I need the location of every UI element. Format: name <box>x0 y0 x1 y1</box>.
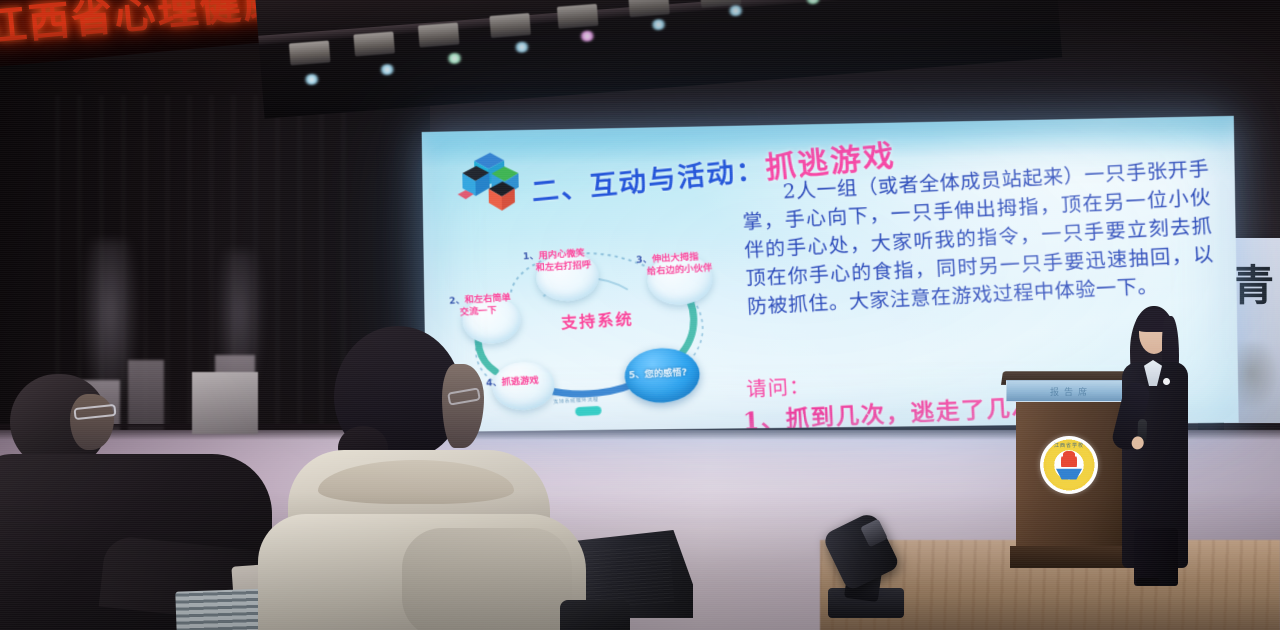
audience-member-center <box>252 318 592 630</box>
crest-arc-text: 江西省学校 <box>1040 442 1098 449</box>
cycle-node-5-num: 5、 <box>628 369 644 381</box>
cube-logo-svg <box>444 146 532 232</box>
cycle-node-2-num: 2、 <box>449 295 465 307</box>
cycle-node-2-line1: 和左右简单 <box>464 292 511 306</box>
spotlight-beam <box>579 30 596 42</box>
isometric-cube-logo <box>444 146 532 232</box>
moving-head-body <box>821 510 900 591</box>
spotlight-beam <box>513 41 530 53</box>
presenter-speaker <box>1108 300 1198 585</box>
stage-light-fixture <box>557 4 599 29</box>
audience-center-shading <box>402 528 572 630</box>
stage-light-fixture <box>628 0 670 17</box>
slide-ask-label: 请问： <box>746 370 812 402</box>
cycle-node-1-label: 1、用内心微笑 和左右打招呼 <box>523 247 592 274</box>
moving-head-light <box>818 516 918 621</box>
presenter-lapel-badge <box>1163 378 1170 385</box>
stage-light-fixture <box>353 32 395 57</box>
cycle-node-5-line1: 您的感悟? <box>644 367 687 380</box>
slide-title-prefix: 二、互动与活动： <box>530 154 767 208</box>
spotlight-beam <box>446 52 463 64</box>
stage-light-fixture <box>418 23 460 48</box>
slide-body-text: 2人一组（或者全体成员站起来）一只手张开手掌，手心向下，一只手伸出拇指，顶在另一… <box>741 155 1217 321</box>
spotlight-beam <box>379 63 396 75</box>
audience-center-face-edge <box>442 364 484 448</box>
foreground-dark-object-right <box>560 600 630 630</box>
cycle-node-3-label: 3、伸出大拇指 给右边的小伙伴 <box>636 250 713 278</box>
school-crest: 江西省学校 <box>1040 436 1098 494</box>
cycle-node-2-label: 2、和左右简单 交流一下 <box>449 292 512 319</box>
cycle-node-2-line2: 交流一下 <box>460 305 497 318</box>
spotlight-beam <box>727 5 744 17</box>
cycle-node-1-line2: 和左右打招呼 <box>535 259 591 273</box>
stage-light-fixture <box>489 13 531 38</box>
spotlight-beam <box>303 73 320 85</box>
calligraphy-character: 青 <box>1232 252 1274 313</box>
presenter-shoe <box>1136 578 1160 586</box>
stage-light-fixture <box>289 40 331 65</box>
spotlight-beam <box>805 0 822 5</box>
slide-body-paragraph: 2人一组（或者全体成员站起来）一只手张开手掌，手心向下，一只手伸出拇指，顶在另一… <box>741 155 1217 321</box>
auditorium-scene: 江西省心理健康教师 青 <box>0 0 1280 630</box>
audience-left-face <box>70 394 114 450</box>
spotlight-beam <box>650 19 667 31</box>
cycle-node-1-num: 1、 <box>523 250 539 262</box>
cycle-node-3-num: 3、 <box>636 254 652 266</box>
